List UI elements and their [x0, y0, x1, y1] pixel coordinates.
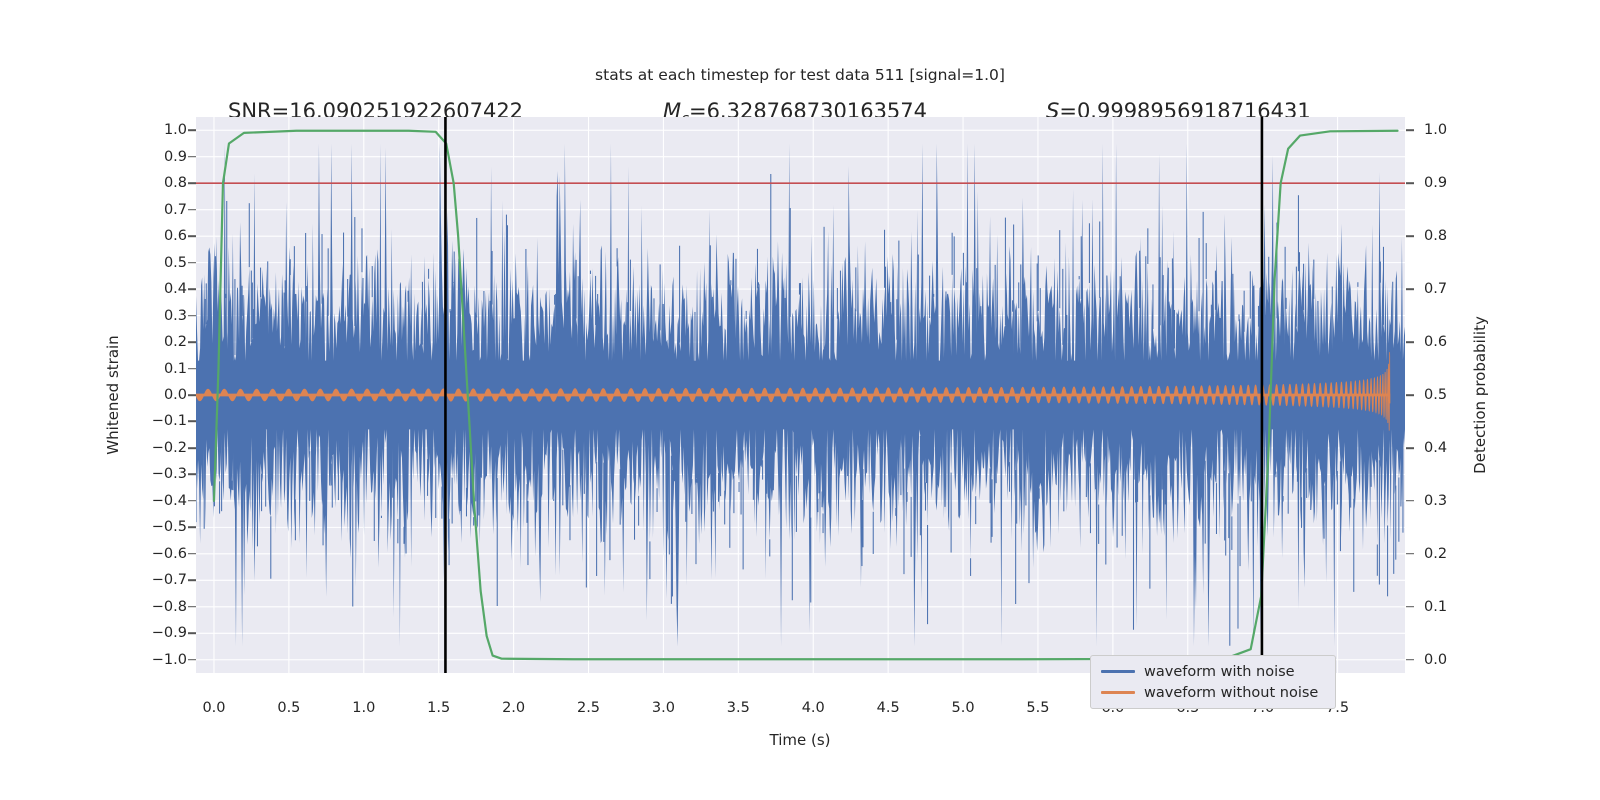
x-axis-label: Time (s)	[0, 731, 1600, 749]
y-tick-mark-right	[1406, 659, 1414, 661]
y-tick-mark-right	[1406, 447, 1414, 449]
x-tick-label: 4.0	[802, 700, 825, 716]
y-tick-mark-left	[188, 500, 196, 502]
y-tick-mark-left	[188, 182, 196, 184]
y-tick-label-left: 0.6	[164, 228, 187, 244]
y-tick-label-right: 0.9	[1424, 175, 1447, 191]
x-tick-label: 4.5	[877, 700, 900, 716]
y-tick-mark-right	[1406, 341, 1414, 343]
plot-svg	[196, 117, 1405, 673]
y-tick-mark-right	[1406, 288, 1414, 290]
y-tick-label-left: 0.4	[164, 281, 187, 297]
y-tick-mark-right	[1406, 606, 1414, 608]
chart-title: stats at each timestep for test data 511…	[0, 66, 1600, 84]
y-tick-mark-left	[188, 156, 196, 158]
y-tick-label-right: 0.3	[1424, 493, 1447, 509]
x-tick-label: 1.0	[352, 700, 375, 716]
y-tick-label-left: −0.3	[152, 466, 187, 482]
x-tick-label: 3.0	[652, 700, 675, 716]
y-axis-label-right: Detection probability	[1471, 316, 1489, 474]
x-tick-label: 2.5	[577, 700, 600, 716]
x-tick-label: 2.0	[502, 700, 525, 716]
legend-swatch-waveform-without-noise	[1101, 691, 1135, 694]
x-tick-label: 5.5	[1026, 700, 1049, 716]
y-tick-label-right: 0.5	[1424, 387, 1447, 403]
y-tick-label-left: −0.2	[152, 440, 187, 456]
y-tick-mark-left	[188, 262, 196, 264]
y-tick-label-left: 0.9	[164, 149, 187, 165]
y-tick-label-left: 0.0	[164, 387, 187, 403]
y-tick-mark-right	[1406, 129, 1414, 131]
y-tick-mark-right	[1406, 182, 1414, 184]
y-tick-label-left: −0.5	[152, 519, 187, 535]
x-tick-label: 1.5	[427, 700, 450, 716]
y-tick-mark-left	[188, 209, 196, 211]
y-tick-label-right: 0.6	[1424, 334, 1447, 350]
y-tick-mark-left	[188, 394, 196, 396]
y-tick-mark-left	[188, 606, 196, 608]
legend-label: waveform without noise	[1144, 685, 1318, 701]
y-tick-mark-left	[188, 659, 196, 661]
y-tick-label-left: −1.0	[152, 652, 187, 668]
y-tick-label-right: 0.2	[1424, 546, 1447, 562]
y-tick-label-left: 0.2	[164, 334, 187, 350]
y-tick-label-left: −0.1	[152, 413, 187, 429]
y-tick-mark-right	[1406, 553, 1414, 555]
y-tick-mark-left	[188, 368, 196, 370]
y-tick-mark-left	[188, 315, 196, 317]
y-tick-label-left: −0.6	[152, 546, 187, 562]
y-tick-label-right: 1.0	[1424, 122, 1447, 138]
y-tick-label-right: 0.0	[1424, 652, 1447, 668]
y-tick-mark-left	[188, 421, 196, 423]
y-tick-mark-left	[188, 553, 196, 555]
y-tick-label-left: 0.7	[164, 202, 187, 218]
y-tick-mark-right	[1406, 500, 1414, 502]
y-tick-mark-left	[188, 474, 196, 476]
x-tick-label: 5.0	[952, 700, 975, 716]
legend-item: waveform with noise	[1097, 661, 1329, 682]
y-axis-label-left: Whitened strain	[104, 335, 122, 454]
legend-label: waveform with noise	[1144, 664, 1295, 680]
y-tick-label-left: −0.4	[152, 493, 187, 509]
y-tick-mark-left	[188, 341, 196, 343]
plot-area	[196, 117, 1405, 673]
y-tick-mark-left	[188, 235, 196, 237]
y-tick-label-left: −0.7	[152, 572, 187, 588]
y-tick-mark-right	[1406, 235, 1414, 237]
y-tick-mark-left	[188, 288, 196, 290]
legend-swatch-waveform-with-noise	[1101, 670, 1135, 673]
legend-item: waveform without noise	[1097, 682, 1329, 703]
y-tick-mark-left	[188, 447, 196, 449]
x-tick-label: 3.5	[727, 700, 750, 716]
y-tick-label-right: 0.1	[1424, 599, 1447, 615]
y-tick-mark-left	[188, 580, 196, 582]
y-tick-label-left: 0.3	[164, 308, 187, 324]
y-tick-label-left: −0.8	[152, 599, 187, 615]
y-tick-mark-left	[188, 527, 196, 529]
figure-canvas: stats at each timestep for test data 511…	[0, 0, 1600, 800]
y-tick-label-right: 0.4	[1424, 440, 1447, 456]
legend-box: waveform with noise waveform without noi…	[1090, 655, 1336, 709]
y-tick-label-left: −0.9	[152, 625, 187, 641]
y-tick-label-left: 0.1	[164, 361, 187, 377]
y-tick-label-left: 0.8	[164, 175, 187, 191]
y-tick-label-right: 0.8	[1424, 228, 1447, 244]
y-tick-mark-left	[188, 632, 196, 634]
y-tick-mark-right	[1406, 394, 1414, 396]
y-tick-label-left: 1.0	[164, 122, 187, 138]
y-tick-mark-left	[188, 129, 196, 131]
x-tick-label: 0.0	[202, 700, 225, 716]
y-tick-label-left: 0.5	[164, 255, 187, 271]
x-tick-label: 0.5	[277, 700, 300, 716]
y-tick-label-right: 0.7	[1424, 281, 1447, 297]
